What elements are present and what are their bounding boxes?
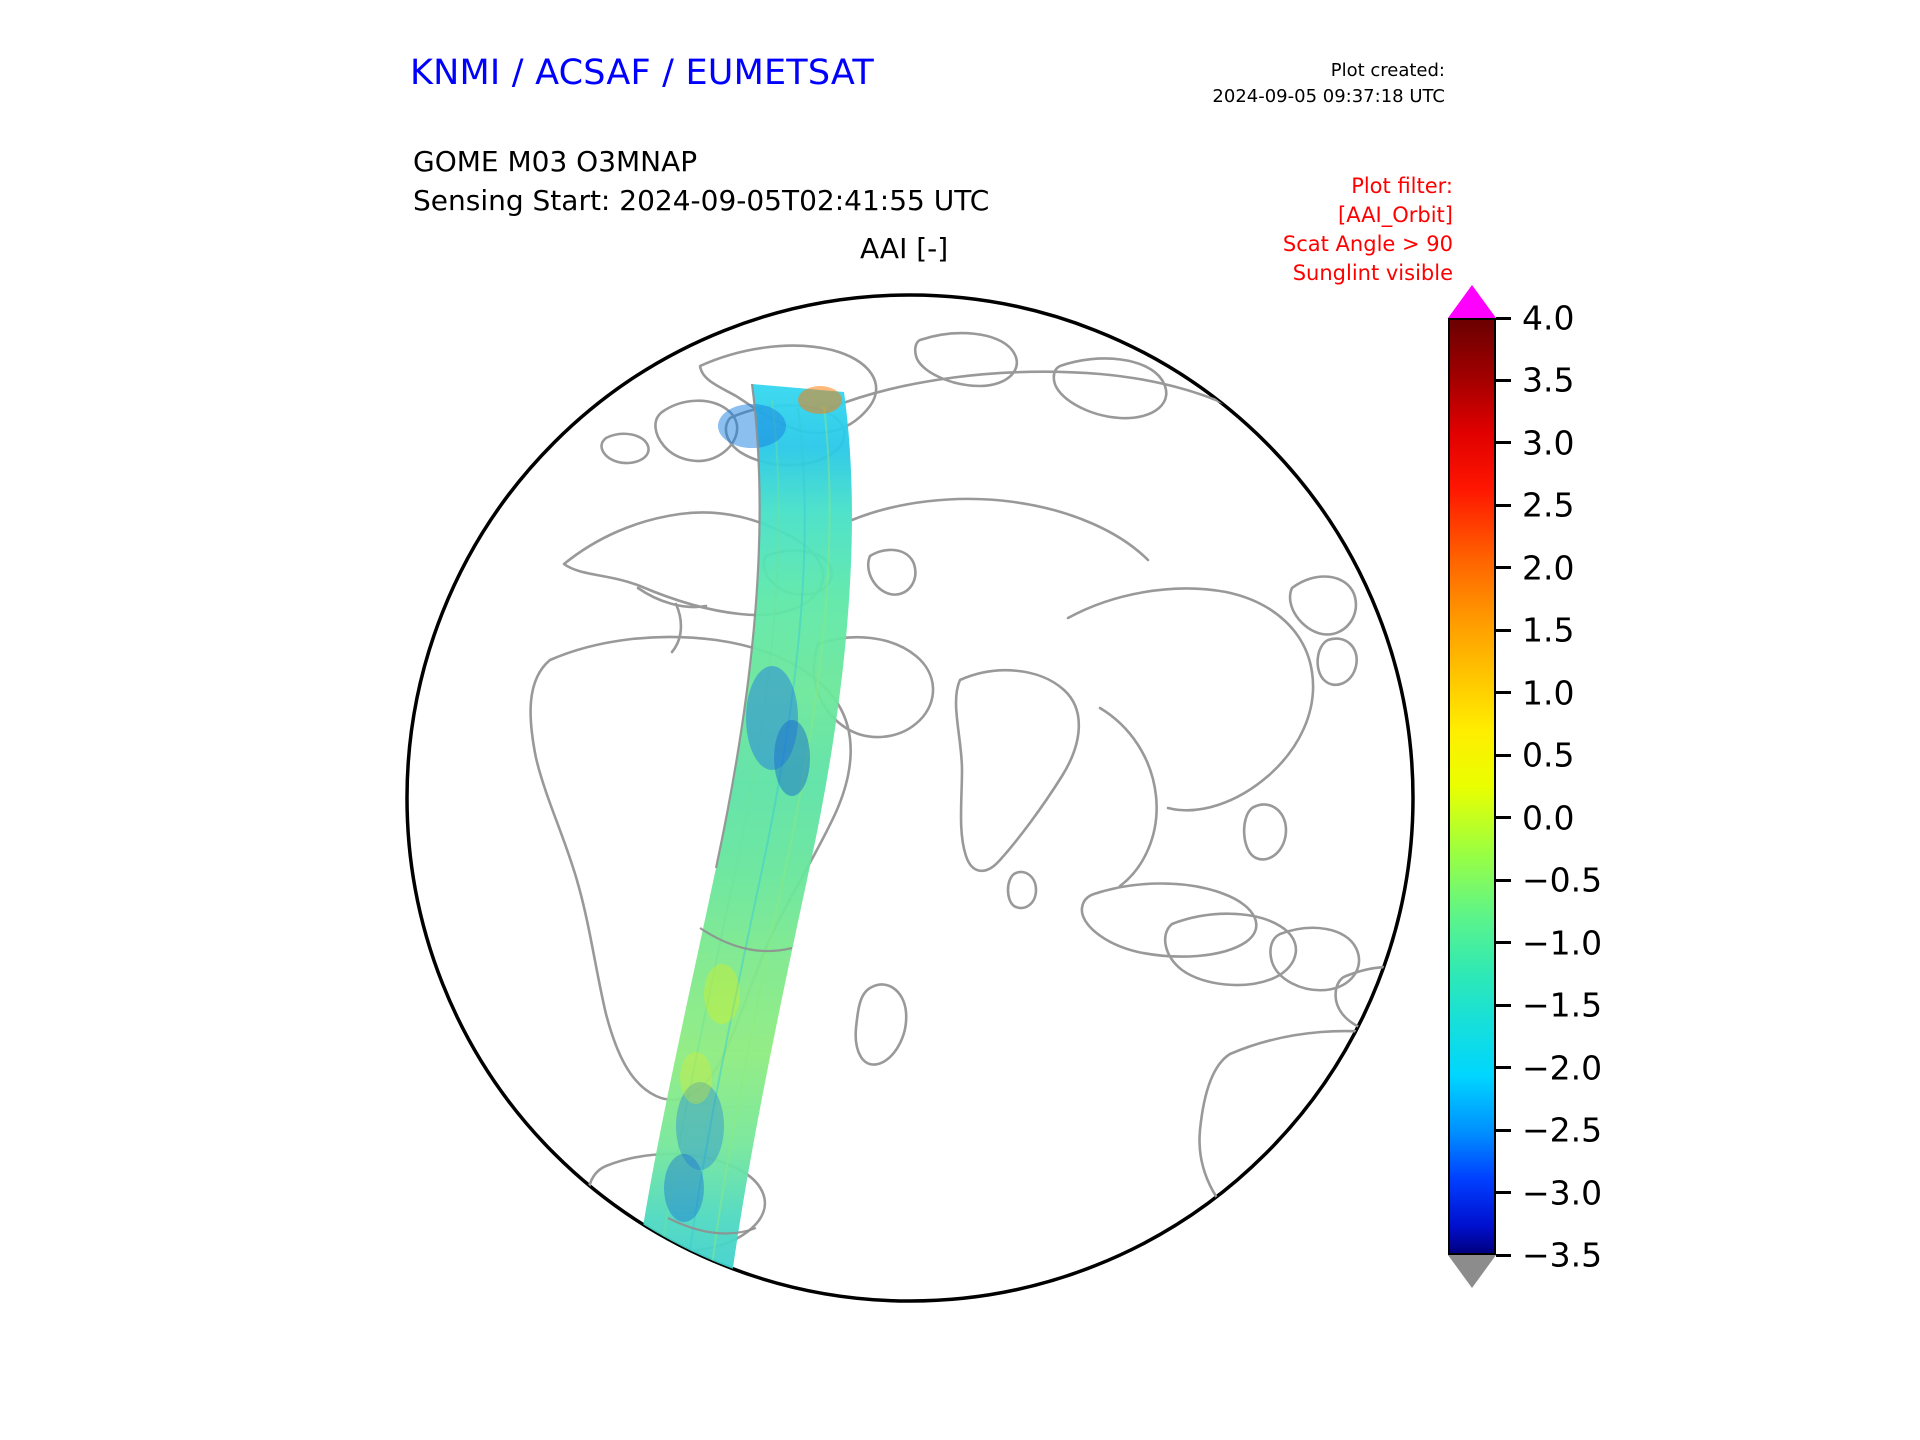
organisation-title: KNMI / ACSAF / EUMETSAT bbox=[410, 53, 874, 93]
colorbar-over-arrow bbox=[1448, 285, 1496, 318]
colorbar-tick-label: 4.0 bbox=[1522, 299, 1574, 338]
plot-filter-block: Plot filter: [AAI_Orbit] Scat Angle > 90… bbox=[1283, 172, 1453, 288]
colorbar-tick-mark bbox=[1496, 1129, 1511, 1132]
colorbar-tick-mark bbox=[1496, 879, 1511, 882]
colorbar-tick-mark bbox=[1496, 629, 1511, 632]
colorbar-tick-label: 0.5 bbox=[1522, 736, 1574, 775]
colorbar-tick-label: 2.0 bbox=[1522, 548, 1574, 587]
colorbar-tick-mark bbox=[1496, 691, 1511, 694]
colorbar-tick-label: −3.5 bbox=[1522, 1236, 1602, 1275]
colorbar-tick-mark bbox=[1496, 754, 1511, 757]
colorbar-tick-mark bbox=[1496, 504, 1511, 507]
colorbar-tick-label: −2.5 bbox=[1522, 1111, 1602, 1150]
colorbar-tick-label: 1.0 bbox=[1522, 673, 1574, 712]
variable-title: AAI [-] bbox=[860, 232, 948, 265]
colorbar-under-arrow bbox=[1448, 1255, 1496, 1288]
colorbar-tick-mark bbox=[1496, 1254, 1511, 1257]
colorbar-tick-mark bbox=[1496, 816, 1511, 819]
plot-page: KNMI / ACSAF / EUMETSAT Plot created: 20… bbox=[0, 0, 1920, 1440]
colorbar-tick-mark bbox=[1496, 317, 1511, 320]
colorbar-tick-mark bbox=[1496, 941, 1511, 944]
colorbar-tick-mark bbox=[1496, 1066, 1511, 1069]
colorbar-tick-mark bbox=[1496, 566, 1511, 569]
colorbar-tick-label: 3.5 bbox=[1522, 361, 1574, 400]
dataset-block: GOME M03 O3MNAP Sensing Start: 2024-09-0… bbox=[413, 142, 989, 220]
colorbar: 4.03.53.02.52.01.51.00.50.0−0.5−1.0−1.5−… bbox=[1448, 285, 1768, 1325]
colorbar-tick-label: 1.5 bbox=[1522, 611, 1574, 650]
colorbar-tick-label: −0.5 bbox=[1522, 861, 1602, 900]
globe-map bbox=[400, 288, 1420, 1308]
plot-filter-name: [AAI_Orbit] bbox=[1283, 201, 1453, 230]
colorbar-tick-mark bbox=[1496, 379, 1511, 382]
colorbar-tick-label: 3.0 bbox=[1522, 423, 1574, 462]
colorbar-tick-label: −2.0 bbox=[1522, 1048, 1602, 1087]
colorbar-tick-mark bbox=[1496, 441, 1511, 444]
plot-filter-scat-angle: Scat Angle > 90 bbox=[1283, 230, 1453, 259]
colorbar-tick-label: 2.5 bbox=[1522, 486, 1574, 525]
plot-created-timestamp: 2024-09-05 09:37:18 UTC bbox=[1212, 84, 1445, 110]
colorbar-tick-label: −3.0 bbox=[1522, 1173, 1602, 1212]
plot-filter-sunglint: Sunglint visible bbox=[1283, 259, 1453, 288]
dataset-name: GOME M03 O3MNAP bbox=[413, 142, 989, 181]
colorbar-tick-label: −1.0 bbox=[1522, 923, 1602, 962]
globe-outline bbox=[407, 295, 1413, 1301]
plot-created-block: Plot created: 2024-09-05 09:37:18 UTC bbox=[1212, 58, 1445, 109]
colorbar-tick-label: −1.5 bbox=[1522, 986, 1602, 1025]
colorbar-tick-label: 0.0 bbox=[1522, 798, 1574, 837]
plot-filter-label: Plot filter: bbox=[1283, 172, 1453, 201]
plot-created-label: Plot created: bbox=[1212, 58, 1445, 84]
colorbar-gradient-bar bbox=[1448, 318, 1496, 1255]
sensing-start: Sensing Start: 2024-09-05T02:41:55 UTC bbox=[413, 181, 989, 220]
colorbar-tick-mark bbox=[1496, 1191, 1511, 1194]
colorbar-tick-mark bbox=[1496, 1004, 1511, 1007]
